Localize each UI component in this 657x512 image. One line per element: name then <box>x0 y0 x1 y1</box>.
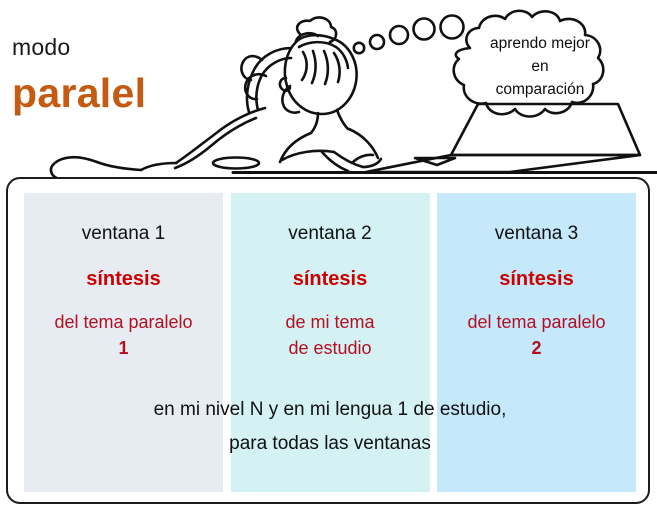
panel-1-line-1: del tema paralelo <box>24 309 223 335</box>
window-label-2: ventana 2 <box>231 222 430 246</box>
window-label-1: ventana 1 <box>24 222 223 246</box>
synthesis-label-1: síntesis <box>24 267 223 292</box>
panel-3-line-1: del tema paralelo <box>437 309 636 335</box>
slide-canvas: modo paralel <box>0 0 657 512</box>
thought-bubble-line-3: comparación <box>466 78 614 101</box>
synthesis-label-3: síntesis <box>437 267 636 292</box>
panel-1-line-2: 1 <box>24 335 223 361</box>
panel-2-line-1: de mi tema <box>231 309 430 335</box>
panel-2-line-2: de estudio <box>231 335 430 361</box>
footer-line-2: para todas las ventanas <box>24 427 636 461</box>
thought-bubble-line-1: aprendo mejor <box>466 32 614 55</box>
mode-kicker: modo <box>12 33 70 61</box>
parallel-mode-card: ventana 1 síntesis del tema paralelo 1 v… <box>6 177 650 504</box>
window-label-3: ventana 3 <box>437 222 636 246</box>
panel-3-line-2: 2 <box>437 335 636 361</box>
page-title: paralel <box>12 69 146 117</box>
thought-bubble-line-2: en <box>466 55 614 78</box>
thought-bubble-text: aprendo mejor en comparación <box>466 32 614 101</box>
card-footer-note: en mi nivel N y en mi lengua 1 de estudi… <box>24 393 636 461</box>
synthesis-label-2: síntesis <box>231 267 430 292</box>
footer-line-1: en mi nivel N y en mi lengua 1 de estudi… <box>24 393 636 427</box>
